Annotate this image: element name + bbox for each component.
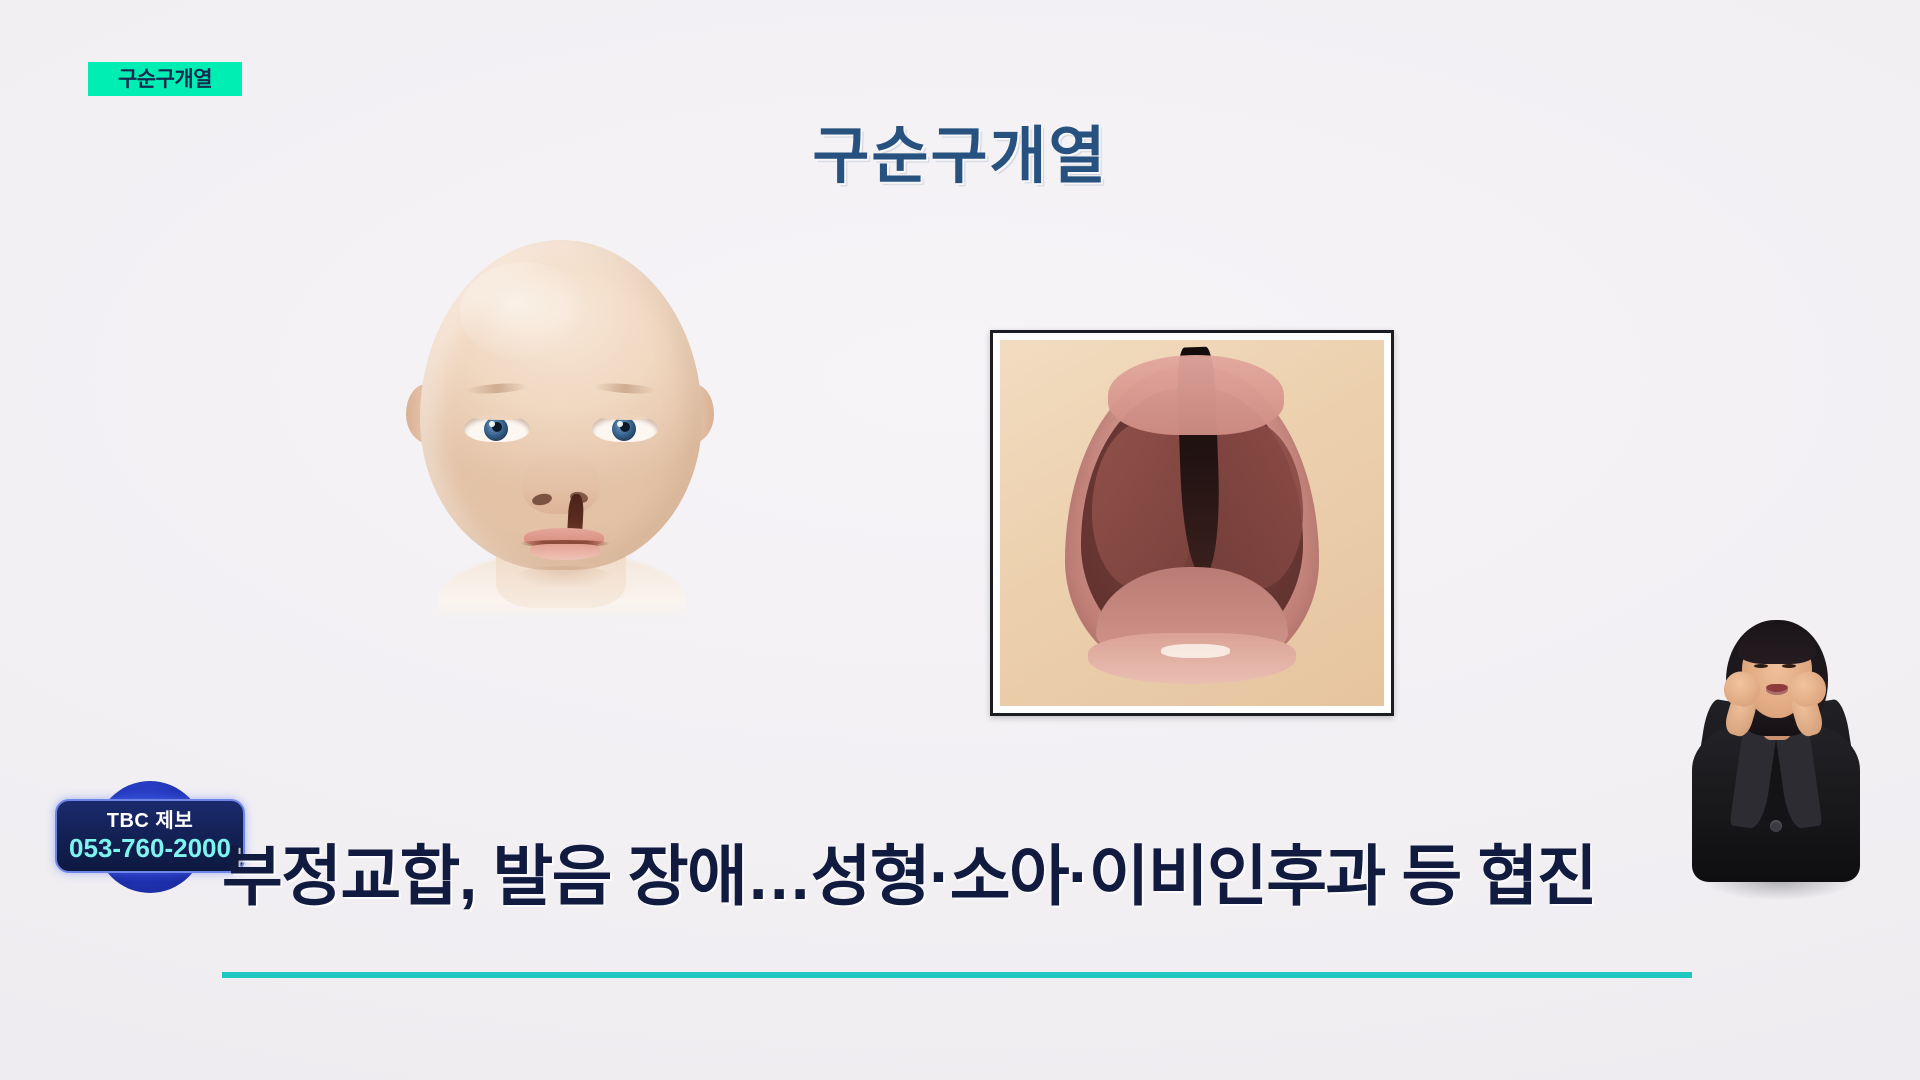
category-badge-label: 구순구개열 [118,69,212,90]
tbc-tip-phone-number: 053-760-2000 [69,835,231,861]
sign-language-interpreter [1670,612,1880,902]
tbc-tip-logo: TBC 제보 053-760-2000 [55,781,245,893]
headline-underline [222,972,1692,978]
baby-eye-left [464,414,530,442]
interpreter-jacket-button [1770,820,1782,832]
clinical-upper-lip [1108,355,1285,436]
clinical-lower-lip [1088,633,1295,684]
slide-title-text: 구순구개열 [812,126,1107,188]
broadcast-frame: 구순구개열 구순구개열 [0,0,1920,1080]
clinical-photo-frame [990,330,1394,716]
category-badge: 구순구개열 [88,62,242,96]
clinical-photo-cleft-palate [1000,340,1384,706]
headline-text: 부정교합, 발음 장애…성형·소아·이비인후과 등 협진 [222,843,1596,909]
baby-eyelid-left [464,414,530,420]
baby-eyelid-right [592,414,658,420]
baby-eye-right [592,414,658,442]
interpreter-mouth [1766,684,1788,695]
tbc-tip-label: TBC 제보 [107,811,193,831]
interpreter-eye-left [1754,664,1768,668]
slide-title: 구순구개열 [0,126,1920,188]
baby-head-highlight [460,262,590,362]
interpreter-eye-right [1782,664,1796,668]
baby-chin-shadow [514,566,614,588]
baby-cleft-lip-illustration [404,236,718,604]
lower-teeth [1161,644,1230,659]
lower-third [0,780,1920,1080]
baby-eye-glint-left [489,421,495,427]
baby-eye-glint-right [617,421,623,427]
tbc-logo-plate: TBC 제보 053-760-2000 [55,799,245,873]
headline: 부정교합, 발음 장애…성형·소아·이비인후과 등 협진 [222,826,1332,926]
baby-lower-lip [530,544,600,560]
